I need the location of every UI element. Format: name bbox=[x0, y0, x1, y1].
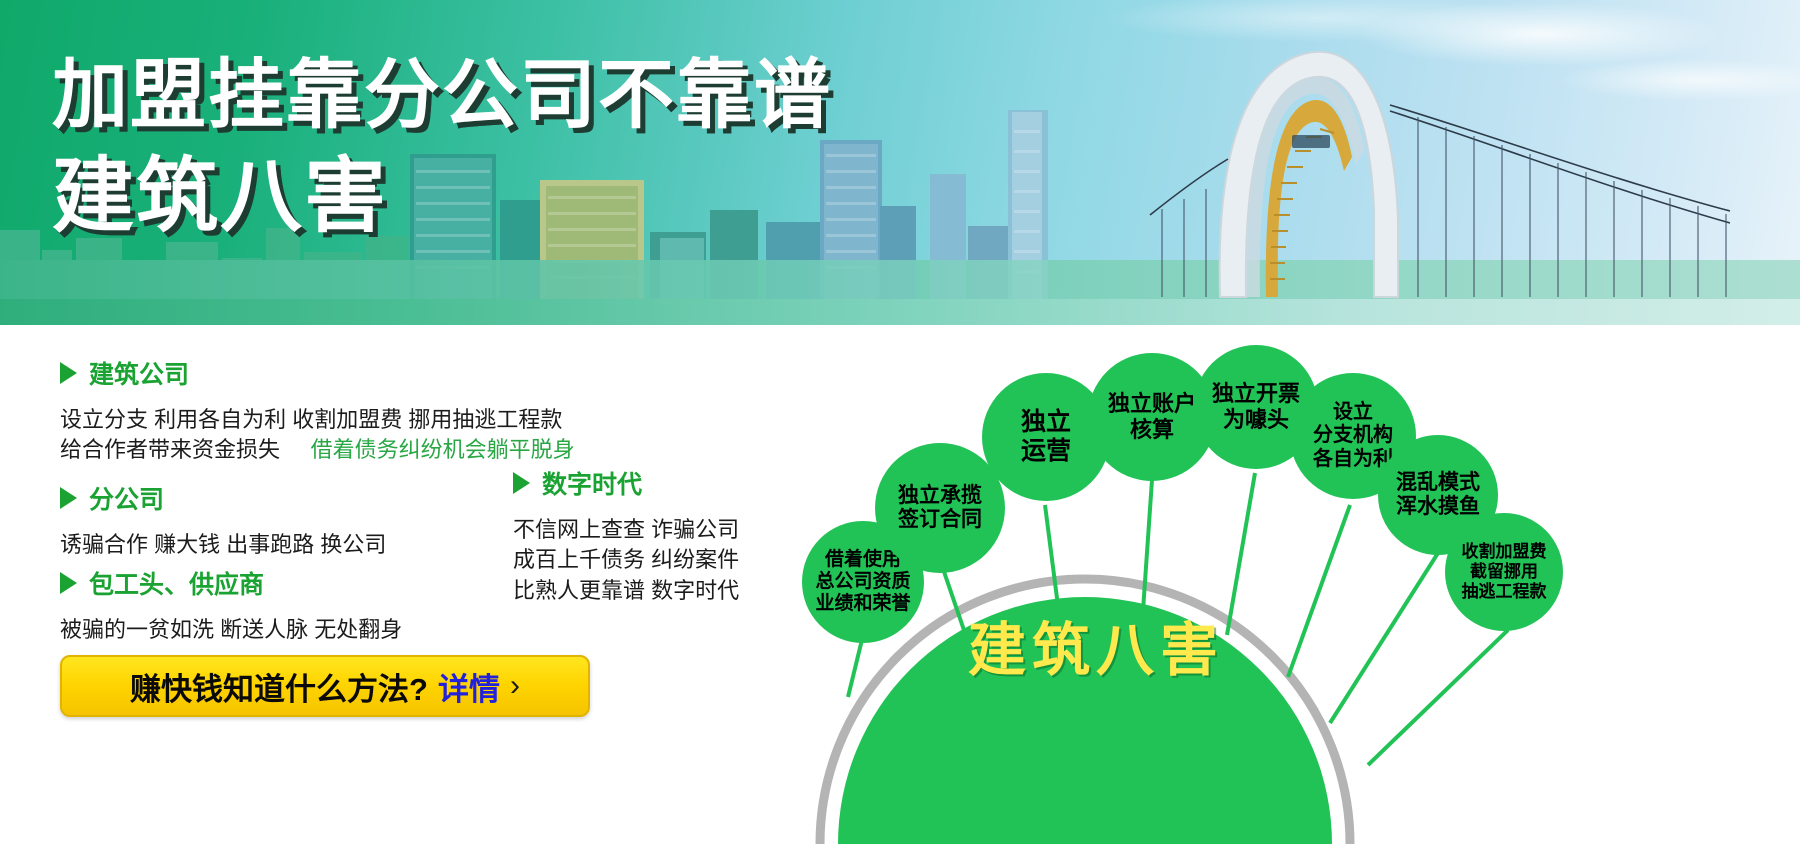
section-heading-contractor-supplier: 包工头、供应商 bbox=[60, 565, 402, 601]
section-body-construction-company: 设立分支 利用各自为利 收割加盟费 挪用抽逃工程款 给合作者带来资金损失 借着债… bbox=[60, 405, 575, 466]
bubble-line: 独立承揽 bbox=[898, 484, 982, 508]
body-line: 设立分支 利用各自为利 收割加盟费 挪用抽逃工程款 bbox=[60, 405, 575, 435]
bubble-diagram: 借着使用 总公司资质 业绩和荣誉 独立承揽 签订合同 独立 运营 独立账户 核算… bbox=[790, 325, 1800, 844]
bubble-line: 签订合同 bbox=[898, 508, 982, 532]
bubble-line: 总公司资质 bbox=[815, 571, 910, 593]
cta-main-label: 赚快钱知道什么方法? bbox=[130, 664, 428, 709]
bubble-line: 运营 bbox=[1021, 437, 1071, 466]
header-banner: 加盟挂靠分公司不靠谱 建筑八害 bbox=[0, 0, 1800, 325]
body-line: 被骗的一贫如洗 断送人脉 无处翻身 bbox=[60, 615, 402, 645]
section-digital-era: 数字时代 不信网上查查 诈骗公司 成百上千债务 纠纷案件 比熟人更靠谱 数字时代 bbox=[513, 465, 739, 606]
bubble-harvest-franchise-fees: 收割加盟费 截留挪用 抽逃工程款 bbox=[1445, 513, 1563, 631]
body-line: 诱骗合作 赚大钱 出事跑路 换公司 bbox=[60, 530, 386, 560]
body-text-black: 给合作者带来资金损失 bbox=[60, 437, 280, 462]
liede-bridge bbox=[970, 39, 1730, 299]
section-title: 包工头、供应商 bbox=[89, 565, 264, 601]
section-heading-branch-company: 分公司 bbox=[60, 480, 386, 516]
section-branch-company: 分公司 诱骗合作 赚大钱 出事跑路 换公司 bbox=[60, 480, 386, 560]
body-line: 成百上千债务 纠纷案件 bbox=[513, 545, 739, 575]
bubble-line: 浑水摸鱼 bbox=[1396, 495, 1480, 519]
ground-strip bbox=[0, 299, 1800, 325]
body-line: 比熟人更靠谱 数字时代 bbox=[513, 576, 739, 606]
body-line: 不信网上查查 诈骗公司 bbox=[513, 515, 739, 545]
dome-label: 建筑八害 bbox=[968, 603, 1224, 687]
section-construction-company: 建筑公司 设立分支 利用各自为利 收割加盟费 挪用抽逃工程款 给合作者带来资金损… bbox=[60, 355, 575, 466]
section-heading-construction-company: 建筑公司 bbox=[60, 355, 575, 391]
section-body-branch-company: 诱骗合作 赚大钱 出事跑路 换公司 bbox=[60, 530, 386, 560]
triangle-bullet-icon bbox=[60, 487, 77, 509]
section-heading-digital-era: 数字时代 bbox=[513, 465, 739, 501]
triangle-bullet-icon bbox=[513, 472, 530, 494]
bubble-independent-contracting: 独立承揽 签订合同 bbox=[875, 443, 1005, 573]
bubble-line: 各自为利 bbox=[1313, 448, 1393, 471]
bubble-line: 借着使用 bbox=[825, 549, 901, 571]
bubble-line: 混乱模式 bbox=[1396, 471, 1480, 495]
bubble-line: 截留挪用 bbox=[1470, 562, 1538, 582]
body-text-green: 借着债务纠纷机会躺平脱身 bbox=[311, 437, 575, 462]
chevron-right-icon: › bbox=[510, 671, 520, 701]
section-body-contractor-supplier: 被骗的一贫如洗 断送人脉 无处翻身 bbox=[60, 615, 402, 645]
bubble-line: 为噱头 bbox=[1223, 407, 1289, 433]
triangle-bullet-icon bbox=[60, 572, 77, 594]
bubble-line: 收割加盟费 bbox=[1462, 542, 1547, 562]
bubble-line: 独立账户 bbox=[1108, 391, 1196, 417]
headline-line-1: 加盟挂靠分公司不靠谱 bbox=[52, 58, 832, 134]
headline-line-2: 建筑八害 bbox=[52, 156, 832, 238]
left-content-panel: 建筑公司 设立分支 利用各自为利 收割加盟费 挪用抽逃工程款 给合作者带来资金损… bbox=[0, 325, 790, 844]
banner-headline: 加盟挂靠分公司不靠谱 建筑八害 bbox=[52, 58, 832, 238]
body-line-mixed: 给合作者带来资金损失 借着债务纠纷机会躺平脱身 bbox=[60, 435, 575, 465]
bubble-line: 业绩和荣誉 bbox=[815, 593, 910, 615]
section-contractor-supplier: 包工头、供应商 被骗的一贫如洗 断送人脉 无处翻身 bbox=[60, 565, 402, 645]
bubble-line: 独立开票 bbox=[1212, 381, 1300, 407]
section-body-digital-era: 不信网上查查 诈骗公司 成百上千债务 纠纷案件 比熟人更靠谱 数字时代 bbox=[513, 515, 739, 606]
bubble-line: 抽逃工程款 bbox=[1462, 582, 1547, 602]
section-title: 建筑公司 bbox=[89, 355, 189, 391]
cta-button[interactable]: 赚快钱知道什么方法? 详情 › bbox=[60, 655, 590, 717]
section-title: 数字时代 bbox=[542, 465, 642, 501]
bubble-line: 设立 bbox=[1333, 401, 1373, 424]
cta-detail-link[interactable]: 详情 bbox=[438, 664, 500, 709]
section-title: 分公司 bbox=[89, 480, 164, 516]
bubble-line: 独立 bbox=[1021, 408, 1071, 437]
bubble-line: 分支机构 bbox=[1313, 424, 1393, 447]
triangle-bullet-icon bbox=[60, 362, 77, 384]
bubble-line: 核算 bbox=[1130, 417, 1174, 443]
